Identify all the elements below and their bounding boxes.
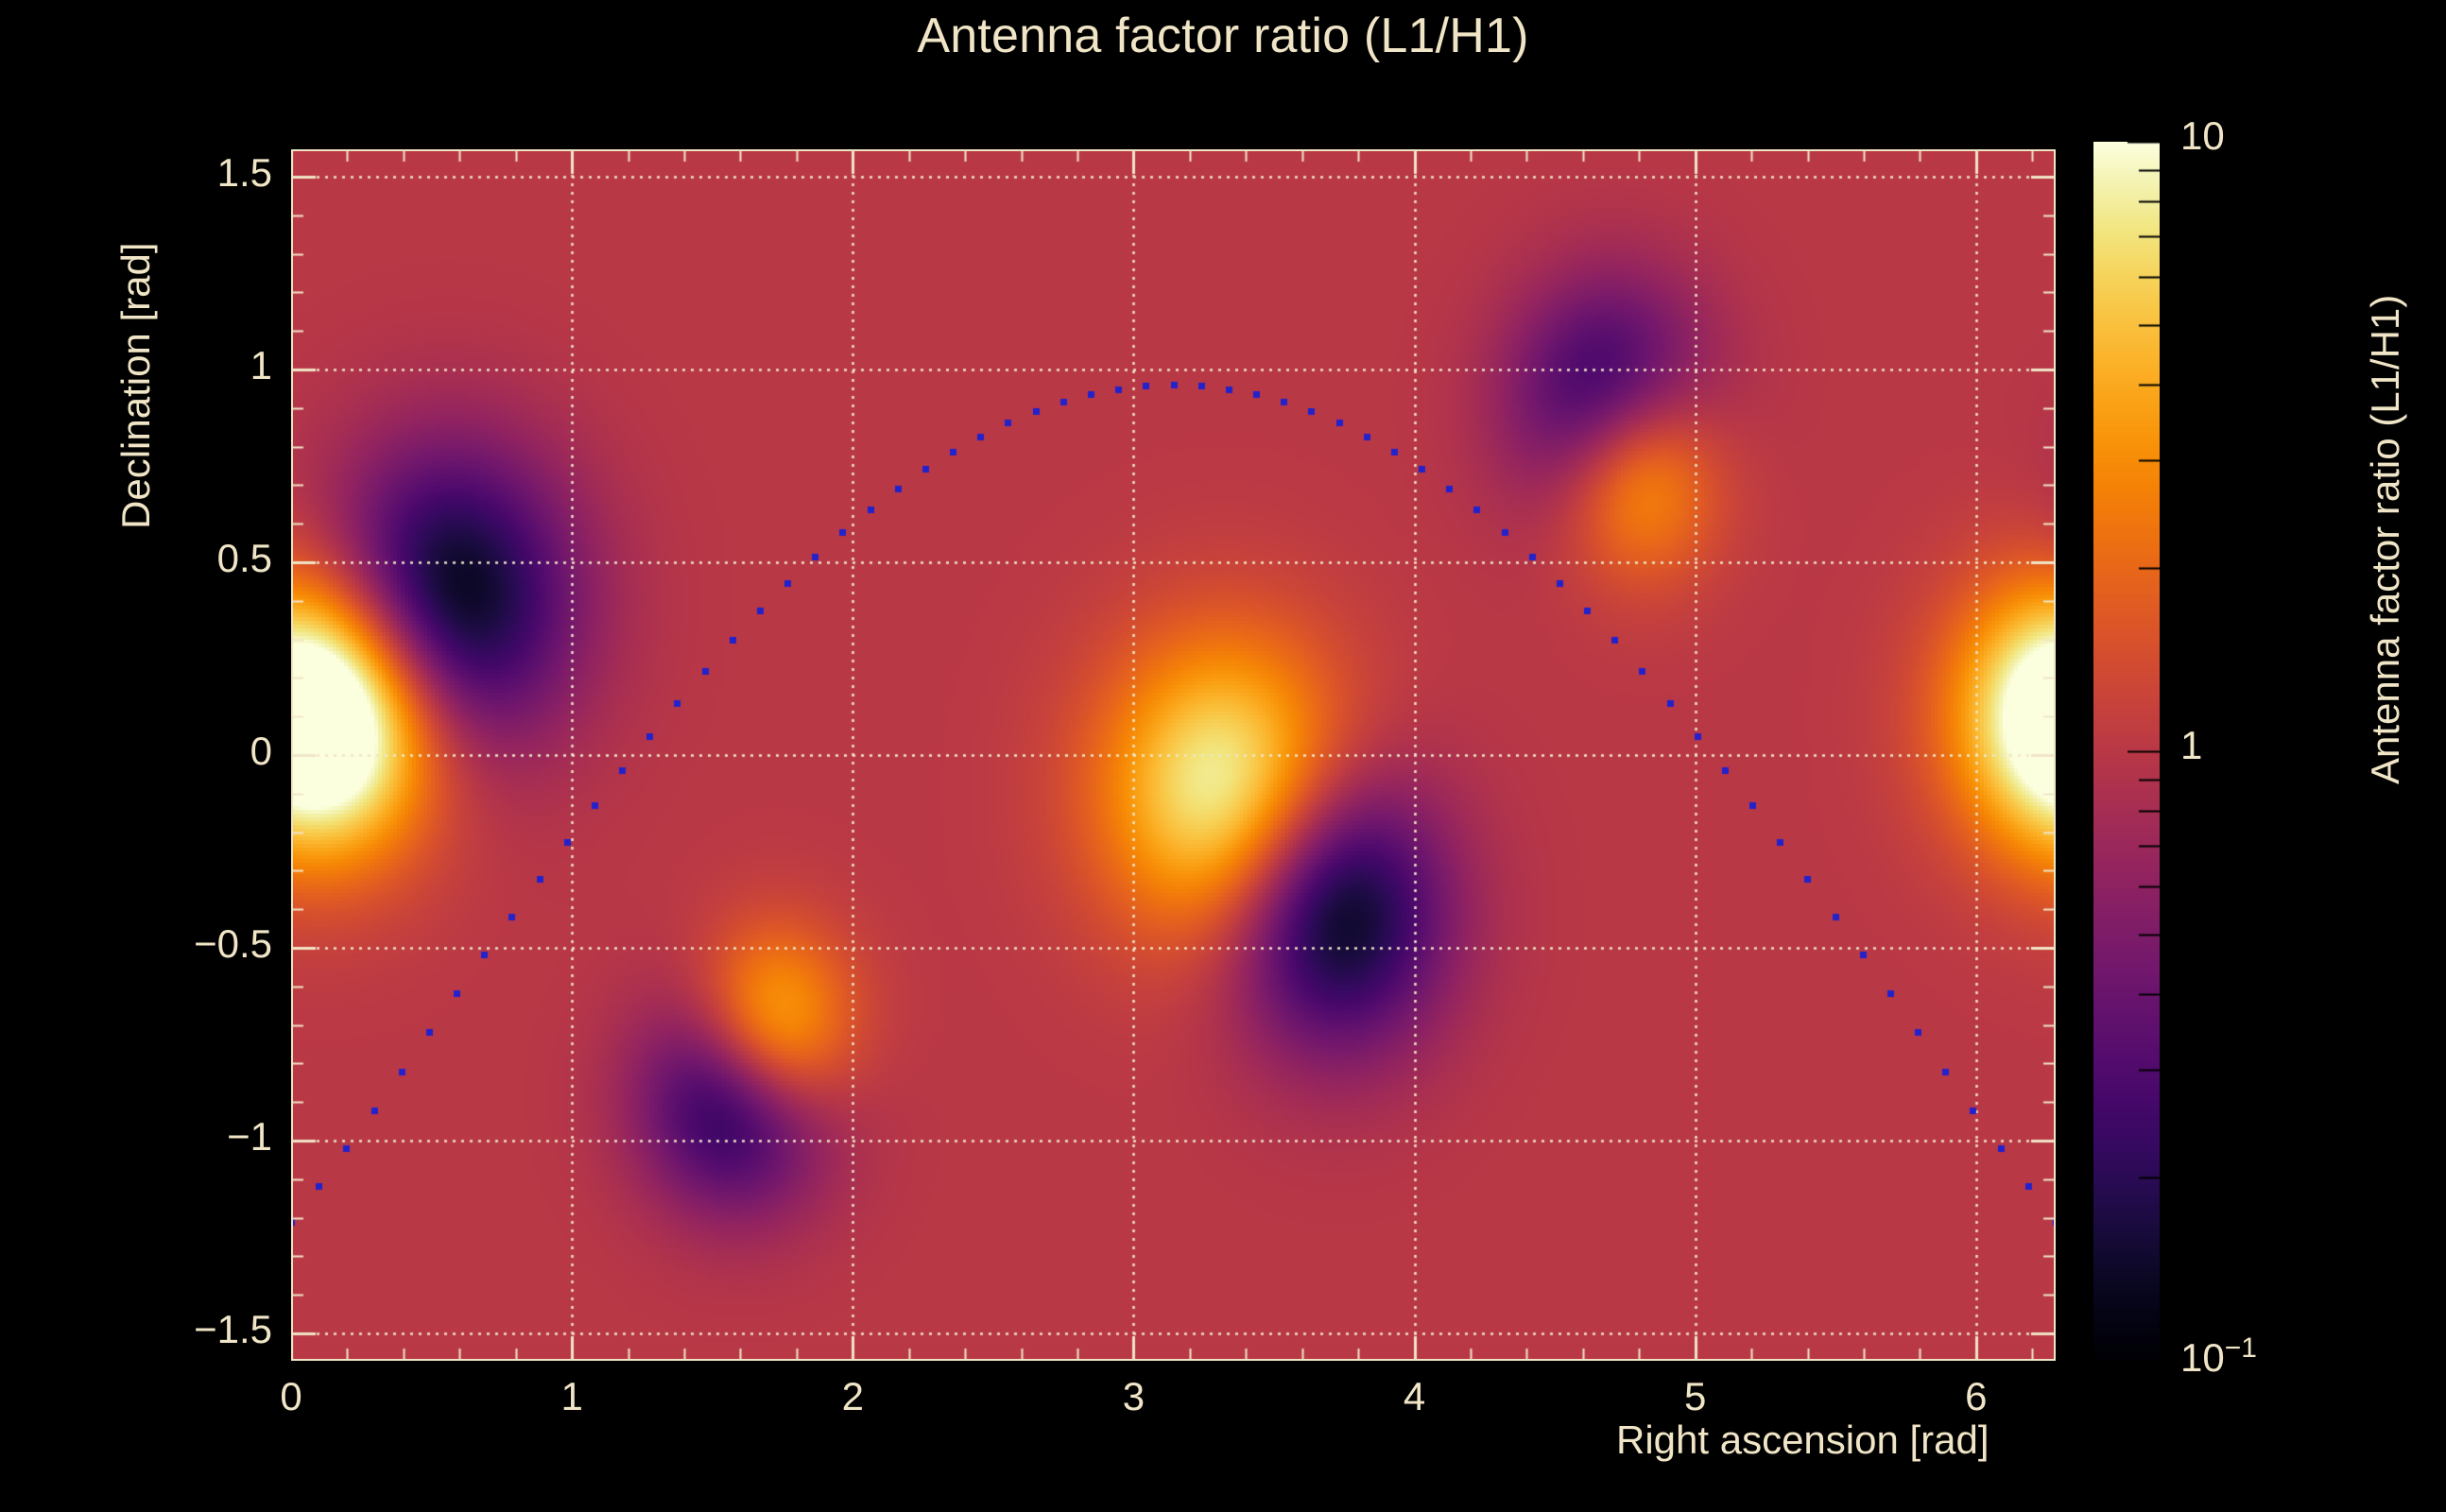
colorbar-tick-label: 1 [2180, 723, 2202, 768]
page-title: Antenna factor ratio (L1/H1) [0, 8, 2446, 64]
colorbar-tick-label: 10−1 [2180, 1332, 2257, 1381]
y-tick-label: 0 [8, 729, 272, 774]
x-tick-label: 0 [234, 1374, 348, 1419]
x-tick-label: 3 [1077, 1374, 1190, 1419]
y-tick-label: −1 [8, 1114, 272, 1160]
x-tick-label: 4 [1358, 1374, 1472, 1419]
x-tick-label: 5 [1639, 1374, 1752, 1419]
colorbar [2093, 142, 2160, 1361]
x-tick-label: 6 [1920, 1374, 2033, 1419]
y-tick-label: 0.5 [8, 536, 272, 581]
heatmap-frame [291, 149, 2056, 1361]
y-tick-label: −1.5 [8, 1307, 272, 1352]
grid-and-markers-overlay [291, 149, 2056, 1361]
y-axis-title: Declination [rad] [113, 243, 159, 530]
plot-canvas: Antenna factor ratio (L1/H1) 0123456−1.5… [0, 0, 2446, 1512]
x-axis-title: Right ascension [rad] [1616, 1417, 1990, 1463]
x-tick-label: 1 [515, 1374, 629, 1419]
colorbar-title: Antenna factor ratio (L1/H1) [2363, 295, 2408, 784]
colorbar-tick-label: 10 [2180, 113, 2225, 159]
y-tick-label: 1.5 [8, 150, 272, 196]
x-tick-label: 2 [796, 1374, 909, 1419]
y-tick-label: −0.5 [8, 921, 272, 967]
